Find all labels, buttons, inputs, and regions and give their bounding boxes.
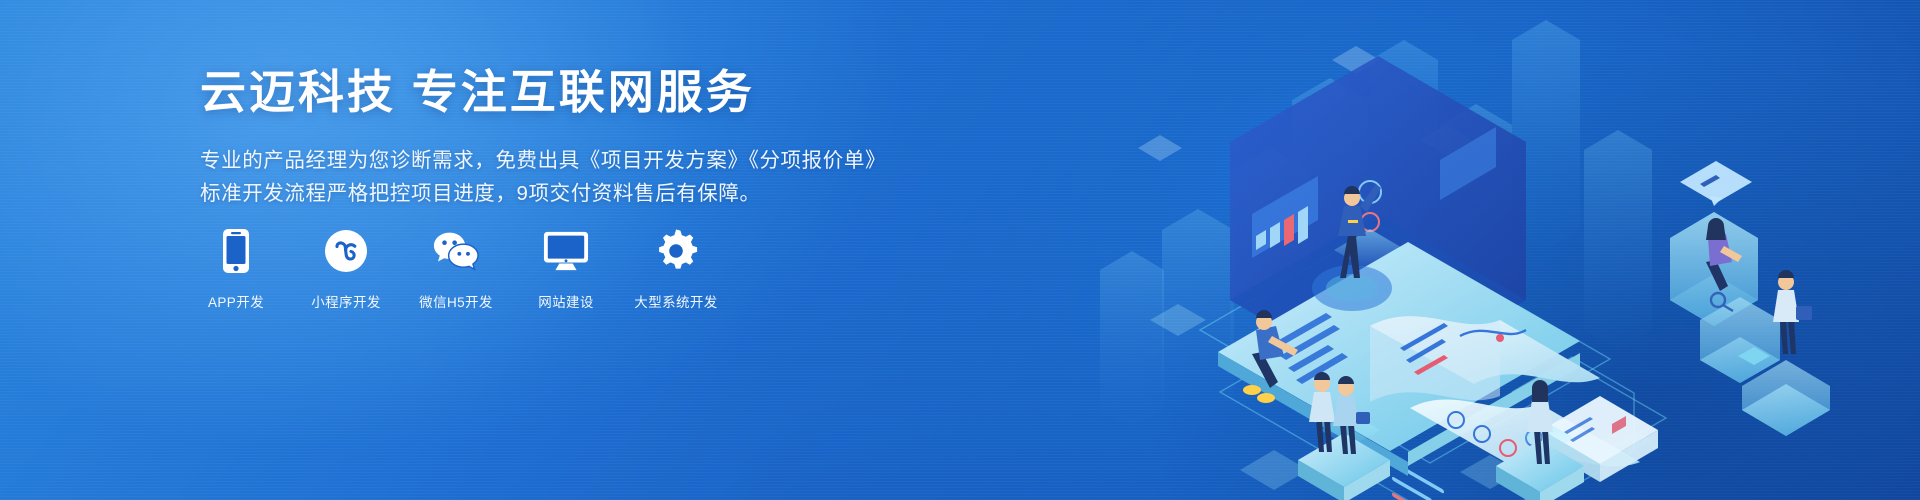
service-label: 小程序开发 — [311, 291, 381, 311]
subtitle-line-2: 标准开发流程严格把控项目进度，9项交付资料售后有保障。 — [200, 177, 920, 210]
service-item-mini-program[interactable]: 小程序开发 — [310, 228, 382, 311]
service-label: 网站建设 — [538, 291, 594, 311]
service-label: APP开发 — [208, 291, 264, 311]
service-item-large-system[interactable]: 大型系统开发 — [640, 228, 712, 311]
service-item-app[interactable]: APP开发 — [200, 228, 272, 311]
service-label: 大型系统开发 — [634, 291, 717, 311]
hero-banner: 云迈科技 专注互联网服务 专业的产品经理为您诊断需求，免费出具《项目开发方案》《… — [0, 0, 1920, 500]
service-item-website[interactable]: 网站建设 — [530, 228, 602, 311]
chat-bubble-icon — [1680, 161, 1752, 206]
wechat-icon — [433, 228, 479, 274]
isometric-tech-illustration — [900, 0, 1920, 500]
subtitle-line-1: 专业的产品经理为您诊断需求，免费出具《项目开发方案》《分项报价单》 — [200, 144, 920, 177]
service-label: 微信H5开发 — [419, 291, 493, 311]
page-title: 云迈科技 专注互联网服务 — [200, 64, 920, 122]
banner-subtitle: 专业的产品经理为您诊断需求，免费出具《项目开发方案》《分项报价单》 标准开发流程… — [200, 144, 920, 210]
service-list: APP开发 小程序开发 — [200, 228, 712, 311]
banner-copy: 云迈科技 专注互联网服务 专业的产品经理为您诊断需求，免费出具《项目开发方案》《… — [200, 64, 920, 210]
mobile-phone-icon — [213, 228, 259, 274]
monitor-icon — [543, 228, 589, 274]
mini-program-icon — [323, 228, 369, 274]
service-item-wechat-h5[interactable]: 微信H5开发 — [420, 228, 492, 311]
gear-icon — [653, 228, 699, 274]
